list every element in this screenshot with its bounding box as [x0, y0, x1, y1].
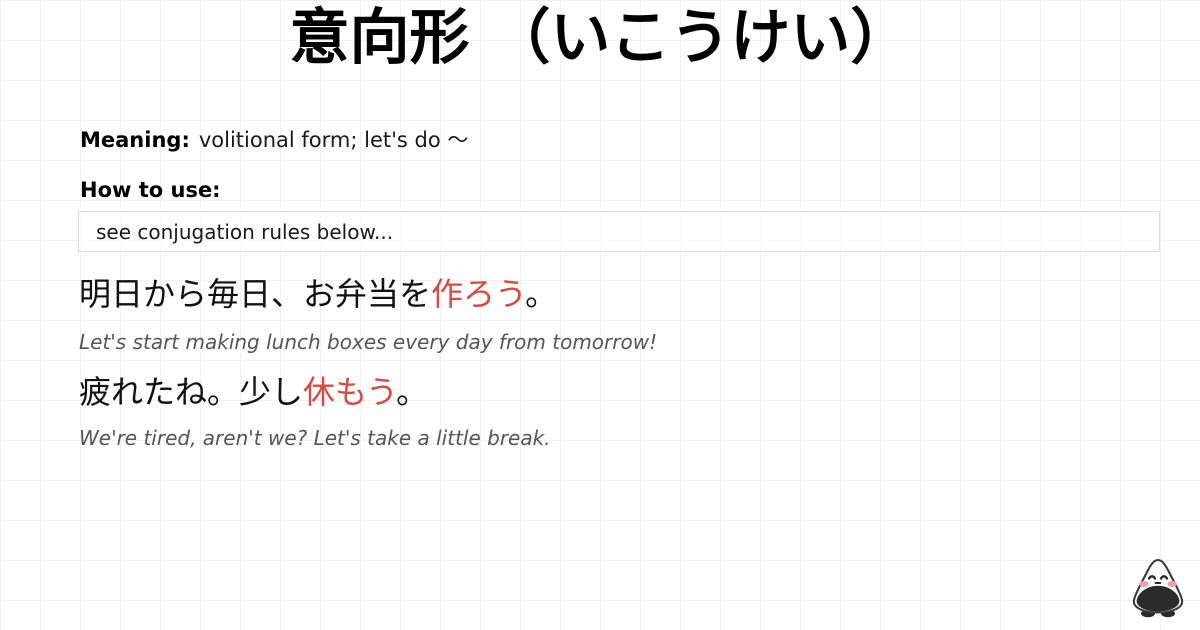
example-1-jp-before: 明日から毎日、お弁当を [79, 275, 431, 313]
example-2-jp-before: 疲れたね。少し [79, 373, 303, 411]
example-2-jp-highlight: 休もう [303, 373, 396, 411]
example-1-translation: Let's start making lunch boxes every day… [79, 330, 657, 355]
page-title: 意向形 （いこうけい） [0, 4, 1200, 73]
meaning-value: volitional form; let's do ～ [199, 128, 469, 152]
conjugation-rules-text: see conjugation rules below... [96, 220, 393, 244]
example-1-jp-after: 。 [525, 275, 557, 313]
how-to-use-label: How to use: [80, 178, 221, 202]
meaning-row: Meaning:volitional form; let's do ～ [80, 128, 468, 153]
example-2-translation: We're tired, aren't we? Let's take a lit… [79, 426, 551, 451]
conjugation-rules-box[interactable]: see conjugation rules below... [78, 211, 1160, 252]
meaning-label: Meaning: [80, 128, 190, 152]
example-1-japanese: 明日から毎日、お弁当を作ろう。 [79, 274, 557, 314]
onigiri-mascot-icon [1122, 552, 1194, 624]
how-to-use-row: How to use: [80, 178, 221, 203]
example-1-jp-highlight: 作ろう [431, 275, 525, 313]
lesson-card: 意向形 （いこうけい） Meaning:volitional form; let… [0, 0, 1200, 630]
example-2-jp-after: 。 [396, 373, 428, 411]
example-2-japanese: 疲れたね。少し休もう。 [79, 372, 428, 412]
